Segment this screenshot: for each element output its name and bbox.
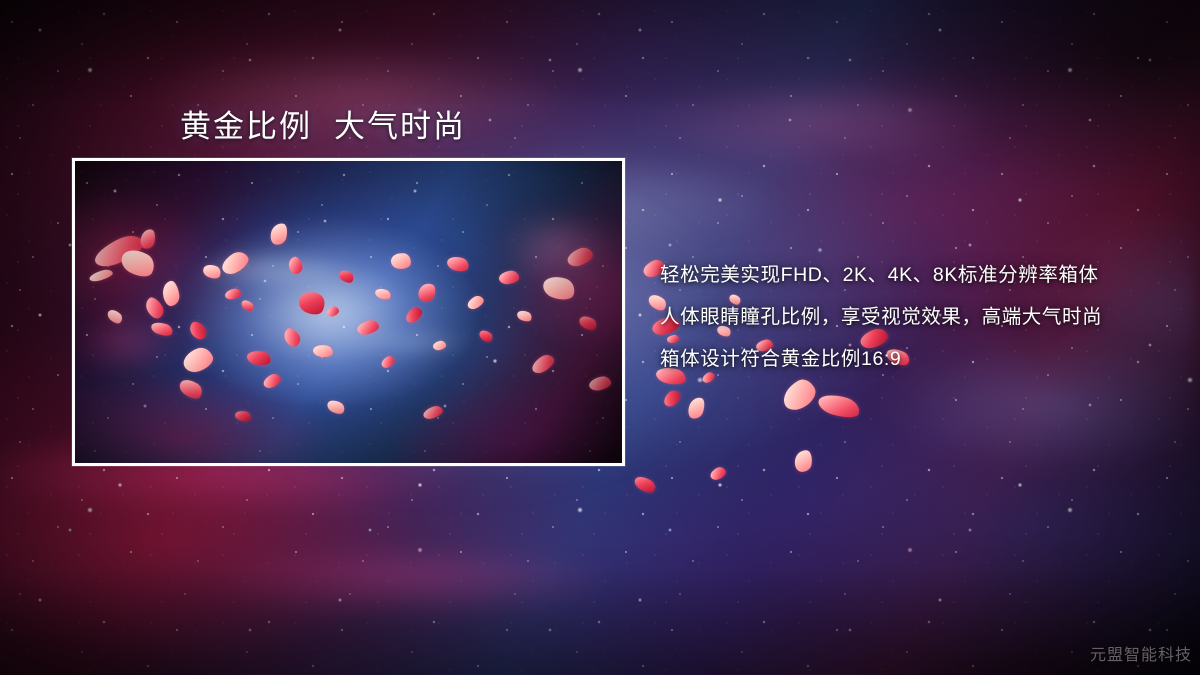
body-text-line: 轻松完美实现FHD、2K、4K、8K标准分辨率箱体 xyxy=(660,254,1180,296)
page-title: 黄金比例大气时尚 xyxy=(180,101,466,146)
body-text-block: 轻松完美实现FHD、2K、4K、8K标准分辨率箱体 人体眼睛瞳孔比例，享受视觉效… xyxy=(660,254,1180,380)
presentation-slide: 黄金比例大气时尚 轻松完美实现FHD、2K、4K、8K标准分辨率箱体 人体眼睛瞳… xyxy=(0,0,1200,675)
framed-image[interactable] xyxy=(72,158,625,466)
title-segment-2: 大气时尚 xyxy=(334,109,466,144)
inner-vignette xyxy=(75,161,622,463)
body-text-line: 箱体设计符合黄金比例16:9 xyxy=(660,338,1180,380)
body-text-line: 人体眼睛瞳孔比例，享受视觉效果，高端大气时尚 xyxy=(660,296,1180,338)
title-segment-1: 黄金比例 xyxy=(180,109,312,144)
watermark-label: 元盟智能科技 xyxy=(1090,641,1192,665)
